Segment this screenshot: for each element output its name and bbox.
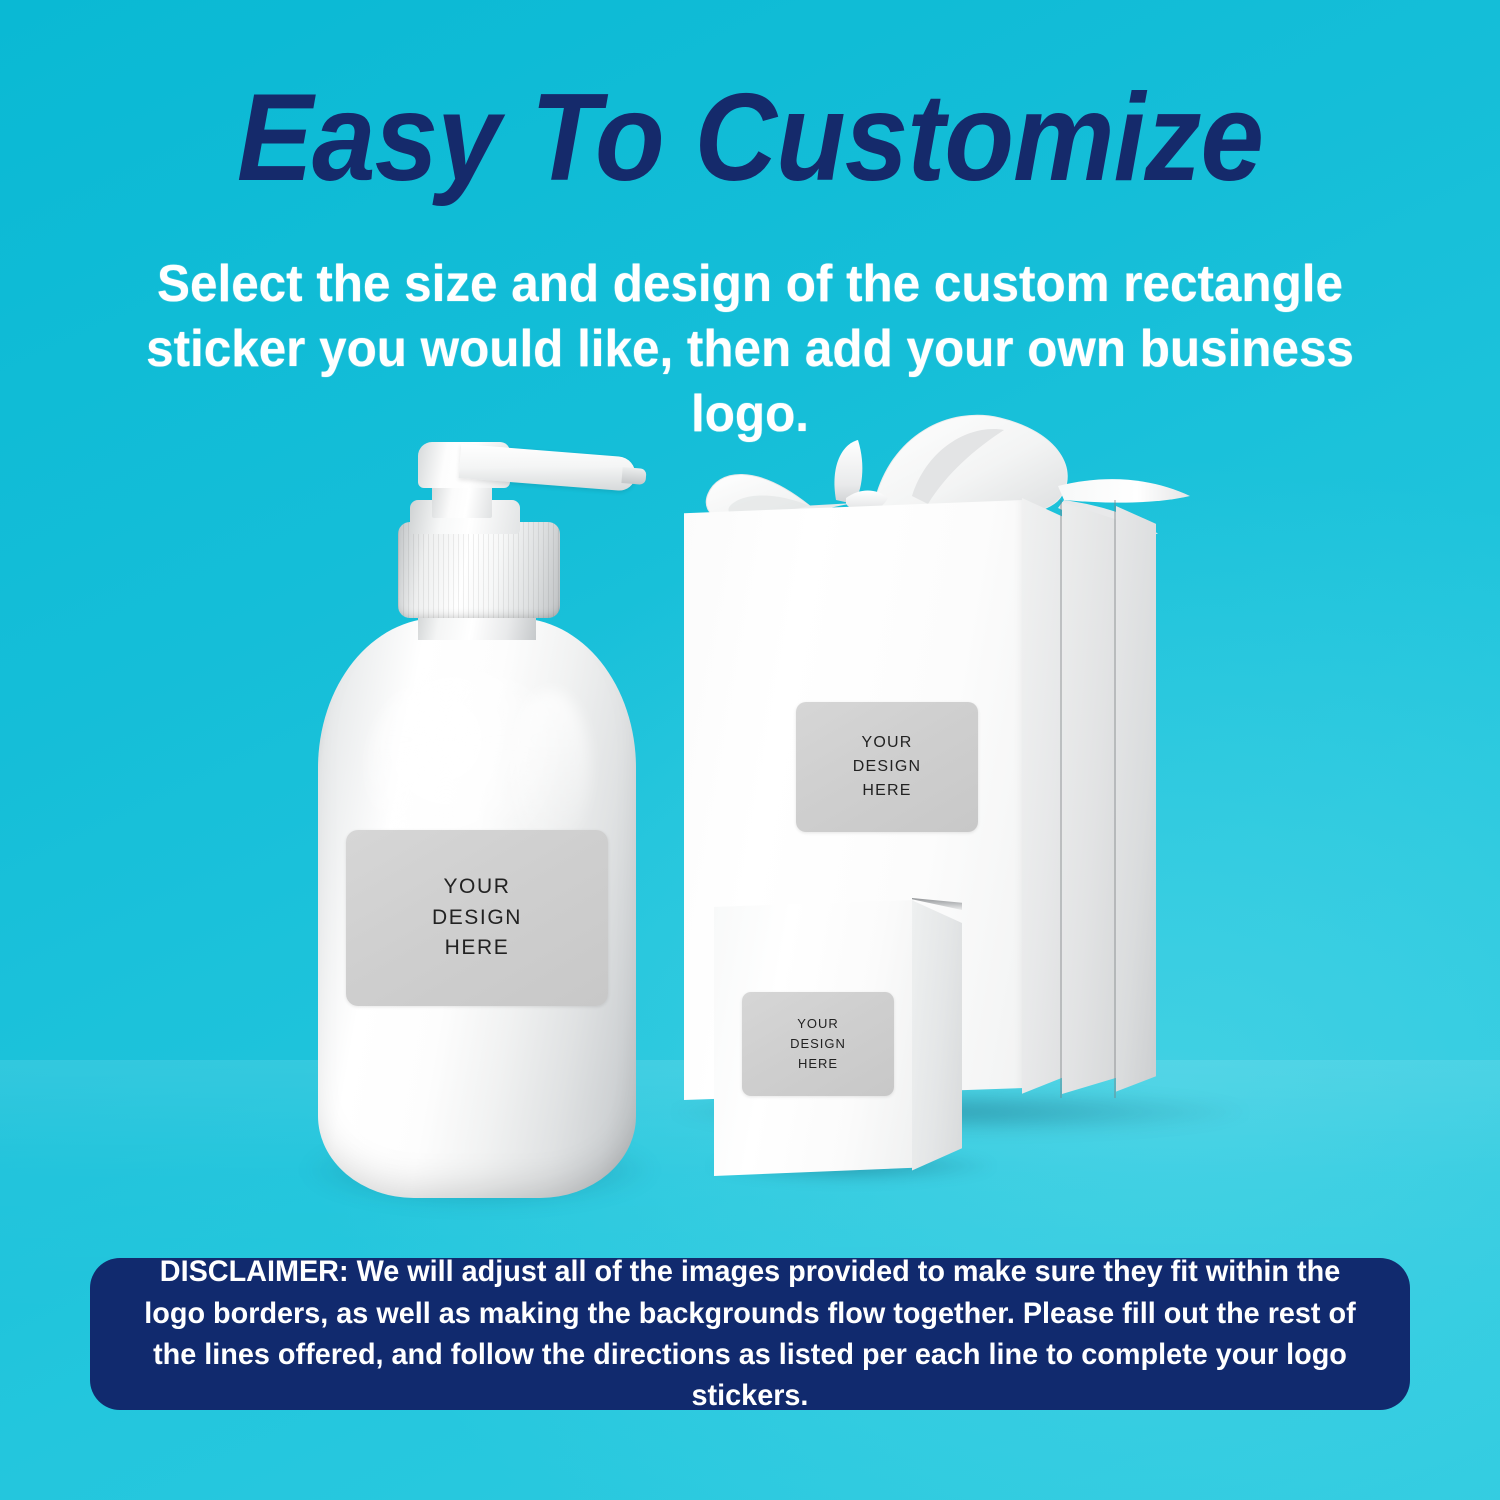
sticker-label-bottle[interactable]: YOUR DESIGN HERE xyxy=(346,830,608,1006)
disclaimer-banner: DISCLAIMER: We will adjust all of the im… xyxy=(90,1258,1410,1410)
sticker-line-2: DESIGN xyxy=(790,1034,846,1054)
small-box-side-panel xyxy=(912,898,962,1176)
gift-box-side-panel-2 xyxy=(1062,502,1118,1100)
bottle-highlight-secondary xyxy=(510,690,590,850)
sticker-line-2: DESIGN xyxy=(432,903,522,933)
page-title: Easy To Customize xyxy=(60,76,1440,200)
disclaimer-label: DISCLAIMER: xyxy=(160,1255,349,1288)
sticker-line-3: HERE xyxy=(798,1054,838,1074)
sticker-line-1: YOUR xyxy=(443,872,510,902)
sticker-label-small-box[interactable]: YOUR DESIGN HERE xyxy=(742,992,894,1096)
sticker-line-1: YOUR xyxy=(861,731,912,755)
bottle-ribbed-cap xyxy=(398,522,560,618)
promo-graphic: Easy To Customize Select the size and de… xyxy=(0,0,1500,1500)
disclaimer-text: DISCLAIMER: We will adjust all of the im… xyxy=(143,1251,1356,1417)
gift-box-side-panel-1 xyxy=(1022,498,1064,1098)
product-small-box: YOUR DESIGN HERE xyxy=(700,890,1000,1190)
gift-box-side-panel-3 xyxy=(1116,506,1156,1100)
sticker-label-gift-box[interactable]: YOUR DESIGN HERE xyxy=(796,702,978,832)
sticker-line-3: HERE xyxy=(445,933,510,963)
sticker-line-1: YOUR xyxy=(797,1014,839,1034)
sticker-line-3: HERE xyxy=(862,779,911,803)
sticker-line-2: DESIGN xyxy=(853,755,922,779)
gift-box-edge-line-1 xyxy=(1060,500,1062,1098)
gift-box-edge-line-2 xyxy=(1114,500,1116,1098)
pump-nozzle-tip xyxy=(621,467,646,485)
product-pump-bottle: YOUR DESIGN HERE xyxy=(300,430,660,1240)
